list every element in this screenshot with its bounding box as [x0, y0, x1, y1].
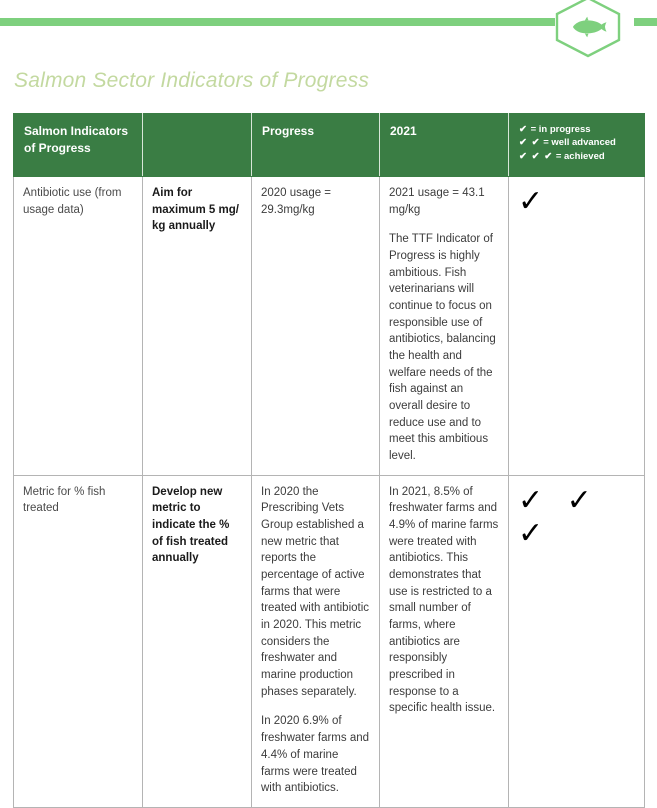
page-header-band — [0, 0, 657, 56]
header-rule-right — [634, 18, 657, 26]
legend-ticks: ✔ ✔ ✔ — [519, 151, 553, 162]
legend-item-well-advanced: ✔ ✔ = well advanced — [519, 136, 635, 149]
cell-target: Aim for maximum 5 mg/ kg annually — [143, 177, 252, 476]
salmon-hexagon-logo-icon — [551, 0, 625, 58]
legend-label: = well advanced — [543, 137, 616, 148]
legend-item-in-progress: ✔ = in progress — [519, 123, 635, 136]
legend-ticks: ✔ — [519, 124, 528, 135]
status-checkmarks: ✓ ✓ ✓ — [518, 483, 599, 551]
cell-indicator-name: Metric for % fish treated — [14, 475, 143, 807]
legend-label: = achieved — [556, 151, 605, 162]
cell-progress: 2020 usage = 29.3mg/kg — [252, 177, 380, 476]
page-title: Salmon Sector Indicators of Progress — [14, 69, 369, 93]
column-header-progress: Progress — [252, 114, 380, 177]
indicators-table: Salmon Indicators of Progress Progress 2… — [13, 113, 645, 808]
status-checkmarks: ✓ — [518, 184, 550, 219]
cell-2021: 2021 usage = 43.1 mg/kg The TTF Indicato… — [380, 177, 509, 476]
cell-progress: In 2020 the Prescribing Vets Group estab… — [252, 475, 380, 807]
table-row: Metric for % fish treated Develop new me… — [14, 475, 645, 807]
table-row: Antibiotic use (from usage data) Aim for… — [14, 177, 645, 476]
column-header-legend: ✔ = in progress ✔ ✔ = well advanced ✔ ✔ … — [509, 114, 645, 177]
cell-paragraph: In 2020 the Prescribing Vets Group estab… — [261, 484, 370, 701]
cell-2021: In 2021, 8.5% of freshwater farms and 4.… — [380, 475, 509, 807]
column-header-year: 2021 — [380, 114, 509, 177]
cell-target: Develop new metric to indicate the % of … — [143, 475, 252, 807]
cell-paragraph: The TTF Indicator of Progress is highly … — [389, 231, 499, 464]
legend-ticks: ✔ ✔ — [519, 137, 541, 148]
column-header-target — [143, 114, 252, 177]
header-rule-left — [0, 18, 555, 26]
cell-paragraph: In 2020 6.9% of freshwater farms and 4.4… — [261, 713, 370, 796]
table-header-row: Salmon Indicators of Progress Progress 2… — [14, 114, 645, 177]
cell-indicator-name: Antibiotic use (from usage data) — [14, 177, 143, 476]
cell-paragraph: In 2021, 8.5% of freshwater farms and 4.… — [389, 484, 499, 717]
column-header-indicator: Salmon Indicators of Progress — [14, 114, 143, 177]
cell-status: ✓ ✓ ✓ — [509, 475, 645, 807]
legend-item-achieved: ✔ ✔ ✔ = achieved — [519, 150, 635, 163]
cell-status: ✓ — [509, 177, 645, 476]
legend-label: = in progress — [531, 124, 591, 135]
cell-paragraph: 2021 usage = 43.1 mg/kg — [389, 185, 499, 218]
